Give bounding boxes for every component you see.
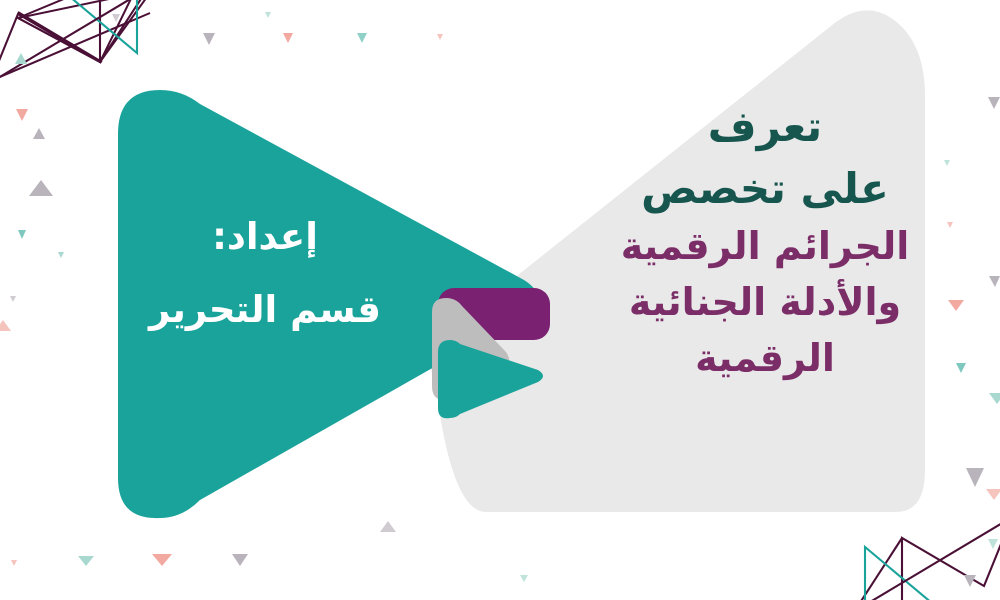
credit-label: إعداد: xyxy=(120,218,410,255)
headline-block: تعرف على تخصص الجرائم الرقمية والأدلة ال… xyxy=(600,96,930,387)
credit-value: قسم التحرير xyxy=(120,291,410,328)
poster-canvas: تعرف على تخصص الجرائم الرقمية والأدلة ال… xyxy=(0,0,1000,600)
headline-line-1: تعرف xyxy=(600,96,930,158)
play-triangle-logo xyxy=(410,270,560,420)
headline-line-3: الجرائم الرقمية xyxy=(600,219,930,275)
headline-line-2: على تخصص xyxy=(600,158,930,220)
credit-block: إعداد: قسم التحرير xyxy=(120,218,410,328)
headline-line-4: والأدلة الجنائية xyxy=(600,275,930,331)
headline-line-5: الرقمية xyxy=(600,331,930,387)
